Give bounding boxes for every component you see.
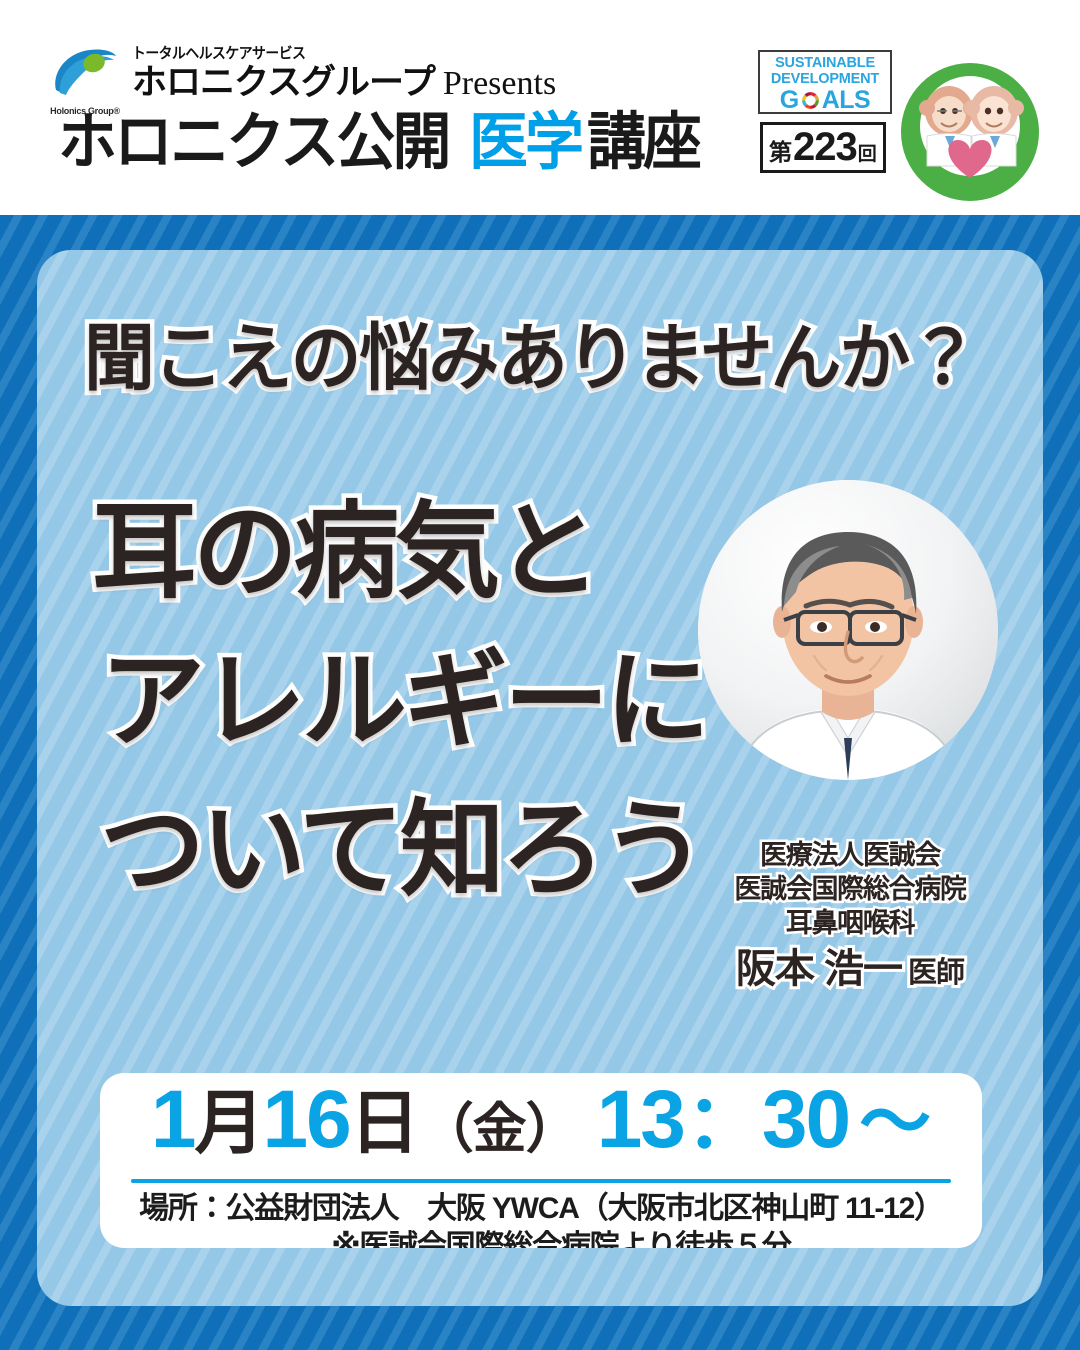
- sdgs-logo: SUSTAINABLE DEVELOPMENT G A: [758, 50, 892, 114]
- sdgs-goals-g: G: [780, 88, 799, 113]
- doctor-affiliation-2: 医誠会国際総合病院: [700, 872, 1000, 906]
- event-day-unit: 日: [350, 1088, 418, 1158]
- holonics-logo-mark: Holonics Group®: [46, 44, 124, 118]
- poster-header: Holonics Group® トータルヘルスケアサービス ホロニクスグループP…: [0, 0, 1080, 215]
- sdgs-line1: SUSTAINABLE: [760, 56, 890, 72]
- event-datetime-row: 1月16日（金）13：30〜: [100, 1073, 982, 1175]
- sdgs-goals-rest: ALS: [822, 88, 871, 113]
- event-venue-address: 場所：公益財団法人 大阪 YWCA（大阪市北区神山町 11-12）: [100, 1190, 982, 1228]
- main-headline: 耳の病気と アレルギーに ついて知ろう: [92, 478, 732, 925]
- episode-suffix: 回: [858, 145, 877, 164]
- event-venue-note: ※医誠会国際総合病院より徒歩５分: [100, 1228, 982, 1249]
- two-monkeys-holding-heart-icon: [897, 56, 1047, 206]
- group-presents-line: ホロニクスグループPresents: [132, 65, 556, 102]
- doctor-portrait-photo: [698, 480, 998, 780]
- event-month-unit: 月: [194, 1088, 262, 1158]
- event-time-tilde: 〜: [859, 1087, 931, 1159]
- headline-line-2: アレルギーに: [100, 627, 732, 776]
- doctor-name-line: 阪本 浩一医師: [700, 946, 1000, 992]
- series-title-part2: 講座: [587, 112, 699, 174]
- event-date-panel: 1月16日（金）13：30〜 場所：公益財団法人 大阪 YWCA（大阪市北区神山…: [100, 1073, 982, 1248]
- headline-line-1: 耳の病気と: [92, 478, 732, 627]
- series-title: ホロニクス公開医学講座: [58, 112, 705, 174]
- event-weekday: （金）: [420, 1102, 579, 1156]
- holonics-swoosh-logo: [50, 46, 118, 96]
- group-name: ホロニクスグループ: [132, 63, 435, 102]
- doctor-portrait-illustration: [698, 480, 998, 780]
- headline-line-3: ついて知ろう: [100, 776, 732, 925]
- seminar-poster: Holonics Group® トータルヘルスケアサービス ホロニクスグループP…: [0, 0, 1080, 1350]
- episode-number-badge: 第223回: [760, 122, 886, 173]
- event-day-number: 16: [262, 1079, 349, 1161]
- sdgs-color-wheel-icon: [800, 90, 821, 111]
- event-time-minute: 30: [762, 1079, 849, 1161]
- question-headline: 聞こえの悩みありませんか？: [84, 322, 977, 395]
- sdgs-line2: DEVELOPMENT: [760, 72, 890, 88]
- holonics-logo-row: Holonics Group® トータルヘルスケアサービス ホロニクスグループP…: [46, 44, 556, 118]
- event-time-hour: 13: [597, 1079, 684, 1161]
- doctor-affiliation-3: 耳鼻咽喉科: [700, 906, 1000, 940]
- episode-number: 223: [793, 127, 857, 167]
- doctor-affiliation-1: 医療法人医誠会: [700, 838, 1000, 872]
- doctor-name: 阪本 浩一: [736, 947, 902, 991]
- sdgs-goals-word: G ALS: [760, 88, 890, 113]
- episode-prefix: 第: [769, 141, 792, 164]
- tagline-total-healthcare: トータルヘルスケアサービス: [132, 46, 522, 61]
- series-title-part1: ホロニクス公開: [58, 112, 449, 174]
- series-title-highlight: 医学: [469, 112, 581, 174]
- event-time-colon: ：: [686, 1085, 760, 1159]
- event-venue-block: 場所：公益財団法人 大阪 YWCA（大阪市北区神山町 11-12） ※医誠会国際…: [100, 1183, 982, 1248]
- doctor-credentials: 医療法人医誠会 医誠会国際総合病院 耳鼻咽喉科 阪本 浩一医師: [700, 838, 1000, 992]
- presents-word: Presents: [443, 65, 556, 102]
- event-month-number: 1: [151, 1079, 195, 1161]
- doctor-title-suffix: 医師: [908, 957, 964, 989]
- holonics-logo-text: トータルヘルスケアサービス ホロニクスグループPresents: [132, 44, 556, 102]
